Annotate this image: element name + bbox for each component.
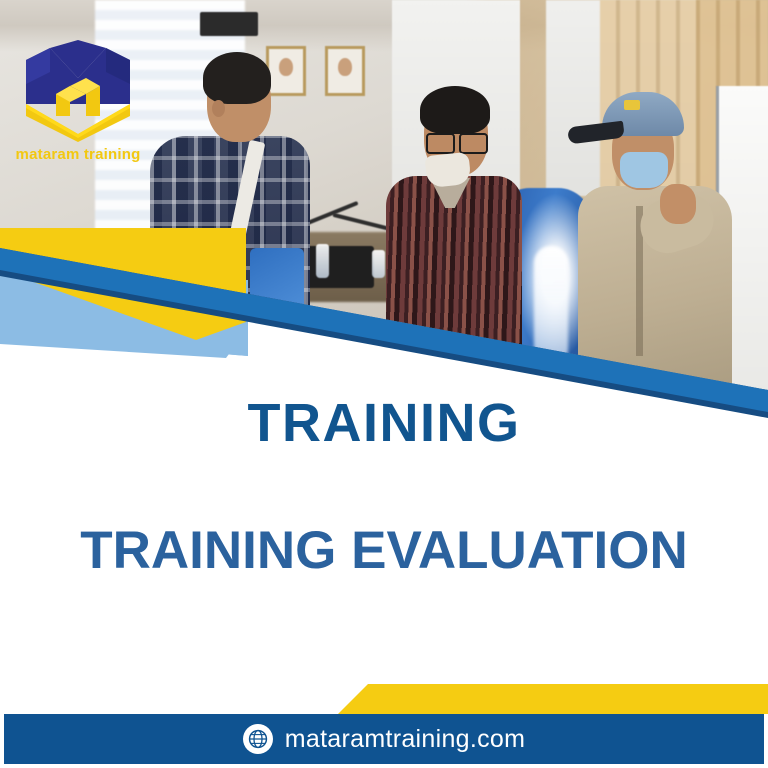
person-plaid-shirt-hair bbox=[203, 52, 271, 104]
monitor-device bbox=[300, 246, 374, 288]
mataram-m-monogram-icon bbox=[20, 38, 136, 142]
band-light-blue-slant bbox=[0, 280, 248, 356]
poster-canvas: mataram training TRAINING TRAINING EVALU… bbox=[0, 0, 768, 768]
person-denim-cap-hand bbox=[660, 184, 696, 224]
brand-logo[interactable]: mataram training bbox=[14, 38, 142, 178]
person-striped-shirt-hair bbox=[420, 86, 490, 134]
footer-bar: mataramtraining.com bbox=[4, 714, 764, 764]
person-plaid-shirt-bag bbox=[250, 248, 304, 314]
denim-cap-logo bbox=[624, 100, 640, 110]
footer-yellow-accent bbox=[338, 684, 768, 714]
globe-icon bbox=[243, 724, 273, 754]
framed-portrait-two bbox=[325, 46, 365, 96]
person-denim-cap-mask bbox=[620, 152, 668, 188]
page-subtitle: TRAINING EVALUATION bbox=[0, 524, 768, 577]
chair-highlight bbox=[534, 246, 568, 366]
framed-portrait-one bbox=[266, 46, 306, 96]
band-light-blue bbox=[0, 280, 248, 356]
water-bottle bbox=[316, 244, 329, 278]
website-url[interactable]: mataramtraining.com bbox=[285, 725, 526, 754]
person-striped-shirt-glasses bbox=[426, 133, 488, 150]
brand-logo-text: mataram training bbox=[14, 146, 142, 163]
page-title: TRAINING bbox=[0, 396, 768, 450]
water-bottle bbox=[372, 250, 385, 278]
person-plaid-shirt-ear bbox=[212, 100, 225, 117]
projector-device-icon bbox=[200, 12, 258, 36]
